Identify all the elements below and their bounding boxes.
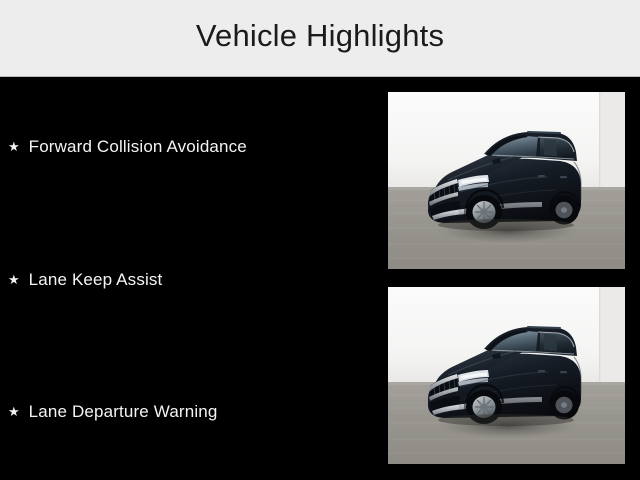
- vehicle-photo-canvas: [388, 92, 625, 269]
- vehicle-illustration: [388, 287, 625, 464]
- vehicle-photo-front-three-quarter-1: [388, 92, 625, 269]
- feature-label: Lane Keep Assist: [29, 270, 163, 290]
- vehicle-photo-canvas: [388, 287, 625, 464]
- vehicle-photo-front-three-quarter-2: [388, 287, 625, 464]
- star-icon: ★: [8, 405, 20, 418]
- star-icon: ★: [8, 273, 20, 286]
- page-title: Vehicle Highlights: [0, 18, 640, 54]
- slide-header: Vehicle Highlights: [0, 0, 640, 77]
- list-item: ★ Forward Collision Avoidance: [8, 137, 247, 157]
- vehicle-highlights-list: ★ Forward Collision Avoidance ★ Lane Kee…: [0, 77, 375, 480]
- list-item: ★ Lane Keep Assist: [8, 270, 162, 290]
- slide-root: Vehicle Highlights ★ Forward Collision A…: [0, 0, 640, 480]
- list-item: ★ Lane Departure Warning: [8, 402, 218, 422]
- feature-label: Forward Collision Avoidance: [29, 137, 247, 157]
- star-icon: ★: [8, 140, 20, 153]
- vehicle-illustration: [388, 92, 625, 269]
- feature-label: Lane Departure Warning: [29, 402, 218, 422]
